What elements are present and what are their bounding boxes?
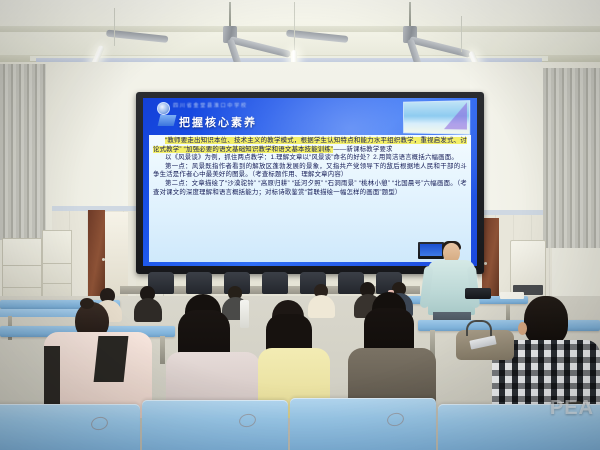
- desk-scribble: [90, 415, 110, 432]
- student-body: [134, 298, 162, 322]
- light-cord: [114, 8, 115, 46]
- projection-screen[interactable]: 四川省金堂县淮口中学校 把握核心素养 “教师要走出知识本位、技术主义的教学模式，…: [143, 98, 477, 266]
- cabinet-seam: [43, 283, 71, 284]
- slide-school-name: 四川省金堂县淮口中学校: [173, 102, 248, 109]
- cabinet-seam: [3, 265, 41, 266]
- school-logo-icon: [157, 102, 170, 115]
- foreground-desk-1: [0, 404, 140, 450]
- jacket-dark-panel: [94, 336, 129, 382]
- desk-scribble: [386, 411, 406, 428]
- fan-rod: [229, 2, 231, 28]
- student-head-plaid: [524, 296, 568, 346]
- watermark: PEA: [550, 397, 594, 420]
- light-cord: [294, 2, 295, 52]
- student-ear: [518, 322, 527, 335]
- front-chair: [186, 272, 212, 294]
- cabinet-tall-left: [2, 238, 42, 302]
- desk-leg: [160, 336, 165, 364]
- hair-bun-icon: [80, 298, 94, 309]
- front-chair: [262, 272, 288, 294]
- slide-paragraph-1: 以《风景谈》为例，抓住两点教学：1.理解文章以“风景谈”命名的好处？2.用简洁语…: [153, 154, 467, 163]
- foreground-desk-3: [290, 398, 436, 450]
- foreground-desk-2: [142, 400, 288, 450]
- cabinet-seam: [3, 287, 41, 288]
- desk-scribble: [238, 412, 258, 429]
- window-curtain-right: [543, 68, 600, 248]
- light-cord: [461, 16, 462, 52]
- fan-rod: [409, 2, 411, 28]
- slide-paragraph-3: 第二点：文章描绘了“沙漠驼铃” “高原归耕” “延河夕照” “石洞雨景” “桃林…: [153, 180, 467, 197]
- window-curtain-left: [0, 64, 46, 240]
- tile-trim-right: [478, 210, 552, 215]
- slide-header: 四川省金堂县淮口中学校 把握核心素养: [143, 98, 477, 134]
- papers-on-desk: [500, 292, 524, 299]
- ceiling-fan-right: [340, 2, 480, 48]
- jacket-dark-side: [44, 346, 60, 404]
- podium-monitor-screen: [420, 244, 442, 256]
- door-knob-left: [102, 258, 105, 261]
- classroom-photo-scene: 四川省金堂县淮口中学校 把握核心素养 “教师要走出知识本位、技术主义的教学模式，…: [0, 0, 600, 450]
- water-bottle: [240, 300, 249, 328]
- laptop-on-desk: [465, 288, 491, 299]
- cabinet-upper-left: [42, 230, 72, 302]
- slide-highlight-paragraph: “教师要走出知识本位、技术主义的教学模式，根据学生认知特点和能力水平组织教学，重…: [153, 137, 467, 154]
- door-knob-right: [484, 262, 487, 265]
- door-left: [88, 210, 105, 300]
- bag-handle: [466, 320, 492, 336]
- ceiling-fan-left: [160, 2, 300, 48]
- student-body: [308, 295, 335, 318]
- cabinet-seam: [43, 263, 71, 264]
- highlight-span: “教师要走出知识本位、技术主义的教学模式，根据学生认知特点和能力水平组织教学，重…: [153, 137, 467, 153]
- slide-title: 把握核心素养: [179, 114, 257, 130]
- slide-source-note: ——新课标教学要求: [333, 146, 392, 153]
- slide-title-accent: [158, 115, 177, 126]
- slide-decorative-image: [403, 100, 470, 135]
- classroom-desk-mid-right: [418, 320, 600, 331]
- slide-paragraph-2: 第一点：风景既指作者看到的解放区蓬勃发展的景象，又指共产党领导下的敌后根据地人民…: [153, 163, 467, 180]
